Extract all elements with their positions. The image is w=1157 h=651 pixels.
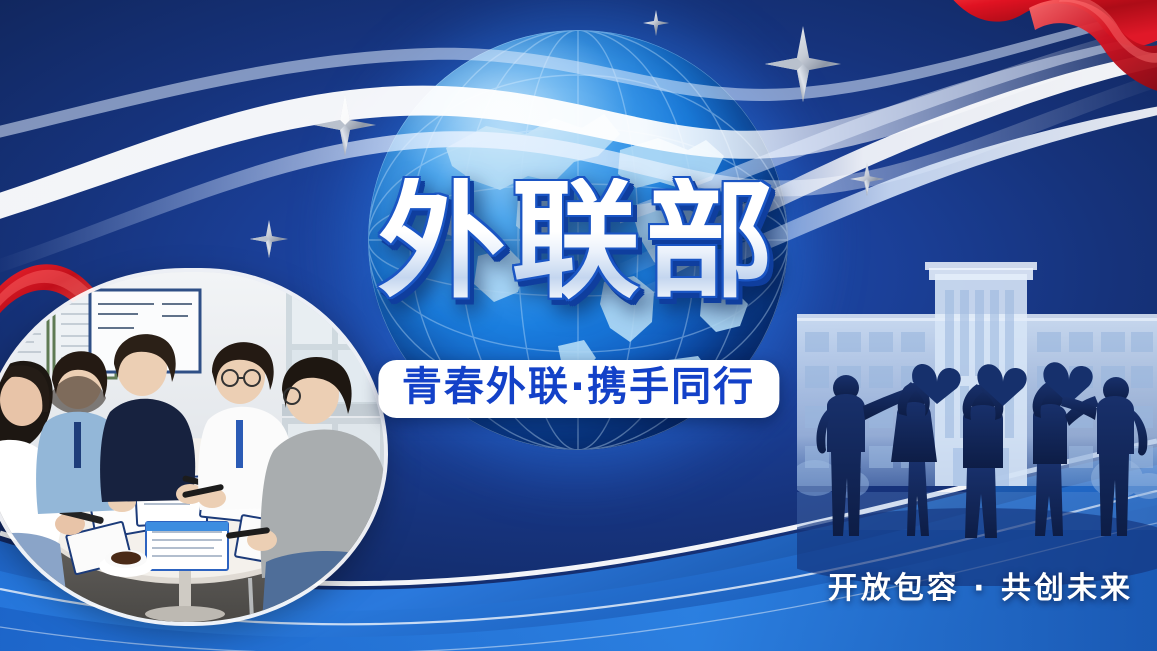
team-meeting-photo — [0, 272, 384, 622]
subtitle-pill: 青春外联·携手同行 — [378, 360, 779, 418]
subtitle-text: 青春外联·携手同行 — [402, 365, 755, 409]
red-ribbon-top-right — [911, 0, 1157, 120]
sparkle-star-icon — [765, 26, 841, 102]
team-meeting-illustration — [0, 272, 384, 622]
footer-slogan: 开放包容 · 共创未来 — [828, 563, 1133, 607]
sparkle-star-icon — [314, 94, 376, 156]
poster-canvas: 外联部 青春外联·携手同行 开放包容 · 共创未来 — [0, 0, 1157, 651]
sparkle-star-icon — [643, 10, 669, 36]
page-title: 外联部 — [0, 178, 1157, 306]
